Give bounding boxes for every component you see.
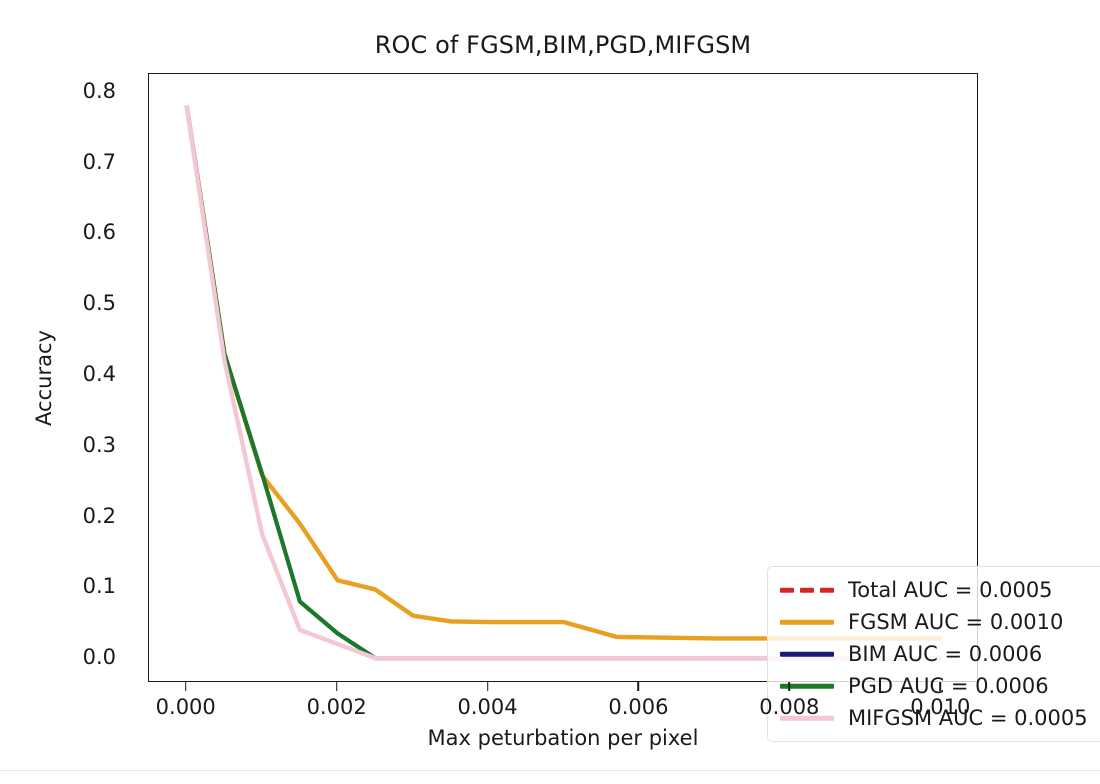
series-line-fgsm — [187, 106, 942, 639]
y-tick-label: 0.2 — [83, 504, 116, 528]
y-tick-label: 0.6 — [83, 220, 116, 244]
x-tick-label: 0.008 — [759, 695, 819, 719]
y-tick-label: 0.4 — [83, 362, 116, 386]
x-tick-mark — [789, 682, 791, 691]
x-tick-mark — [487, 682, 489, 691]
legend-swatch-fgsm-icon — [780, 612, 834, 632]
legend-item-fgsm[interactable]: FGSM AUC = 0.0010 — [780, 606, 1100, 638]
y-tick-label: 0.1 — [83, 574, 116, 598]
x-tick-mark — [336, 682, 338, 691]
x-tick-mark — [939, 682, 941, 691]
x-tick-label: 0.000 — [156, 695, 216, 719]
x-tick-mark — [638, 682, 640, 691]
y-tick-label: 0.3 — [83, 433, 116, 457]
x-tick-label: 0.006 — [608, 695, 668, 719]
plot-area: Total AUC = 0.0005FGSM AUC = 0.0010BIM A… — [148, 73, 978, 682]
legend-item-bim[interactable]: BIM AUC = 0.0006 — [780, 638, 1100, 670]
legend-swatch-total-icon — [780, 580, 834, 600]
legend-label-bim: BIM AUC = 0.0006 — [848, 642, 1042, 666]
legend-item-total[interactable]: Total AUC = 0.0005 — [780, 574, 1100, 606]
y-axis-ticks: 0.00.10.20.30.40.50.60.70.8 — [20, 73, 138, 682]
legend-swatch-bim-icon — [780, 644, 834, 664]
y-tick-label: 0.8 — [83, 79, 116, 103]
y-tick-label: 0.7 — [83, 150, 116, 174]
x-tick-label: 0.004 — [457, 695, 517, 719]
x-axis-label: Max peturbation per pixel — [148, 726, 978, 750]
x-tick-label: 0.010 — [910, 695, 970, 719]
chart-title: ROC of FGSM,BIM,PGD,MIFGSM — [148, 31, 978, 59]
y-tick-label: 0.5 — [83, 291, 116, 315]
matplotlib-figure: ROC of FGSM,BIM,PGD,MIFGSM Accuracy 0.00… — [0, 0, 1100, 770]
window-bottom-strip — [0, 770, 1100, 784]
legend-label-fgsm: FGSM AUC = 0.0010 — [848, 610, 1063, 634]
y-tick-label: 0.0 — [83, 645, 116, 669]
x-tick-mark — [185, 682, 187, 691]
x-tick-label: 0.002 — [307, 695, 367, 719]
legend-label-total: Total AUC = 0.0005 — [848, 578, 1053, 602]
